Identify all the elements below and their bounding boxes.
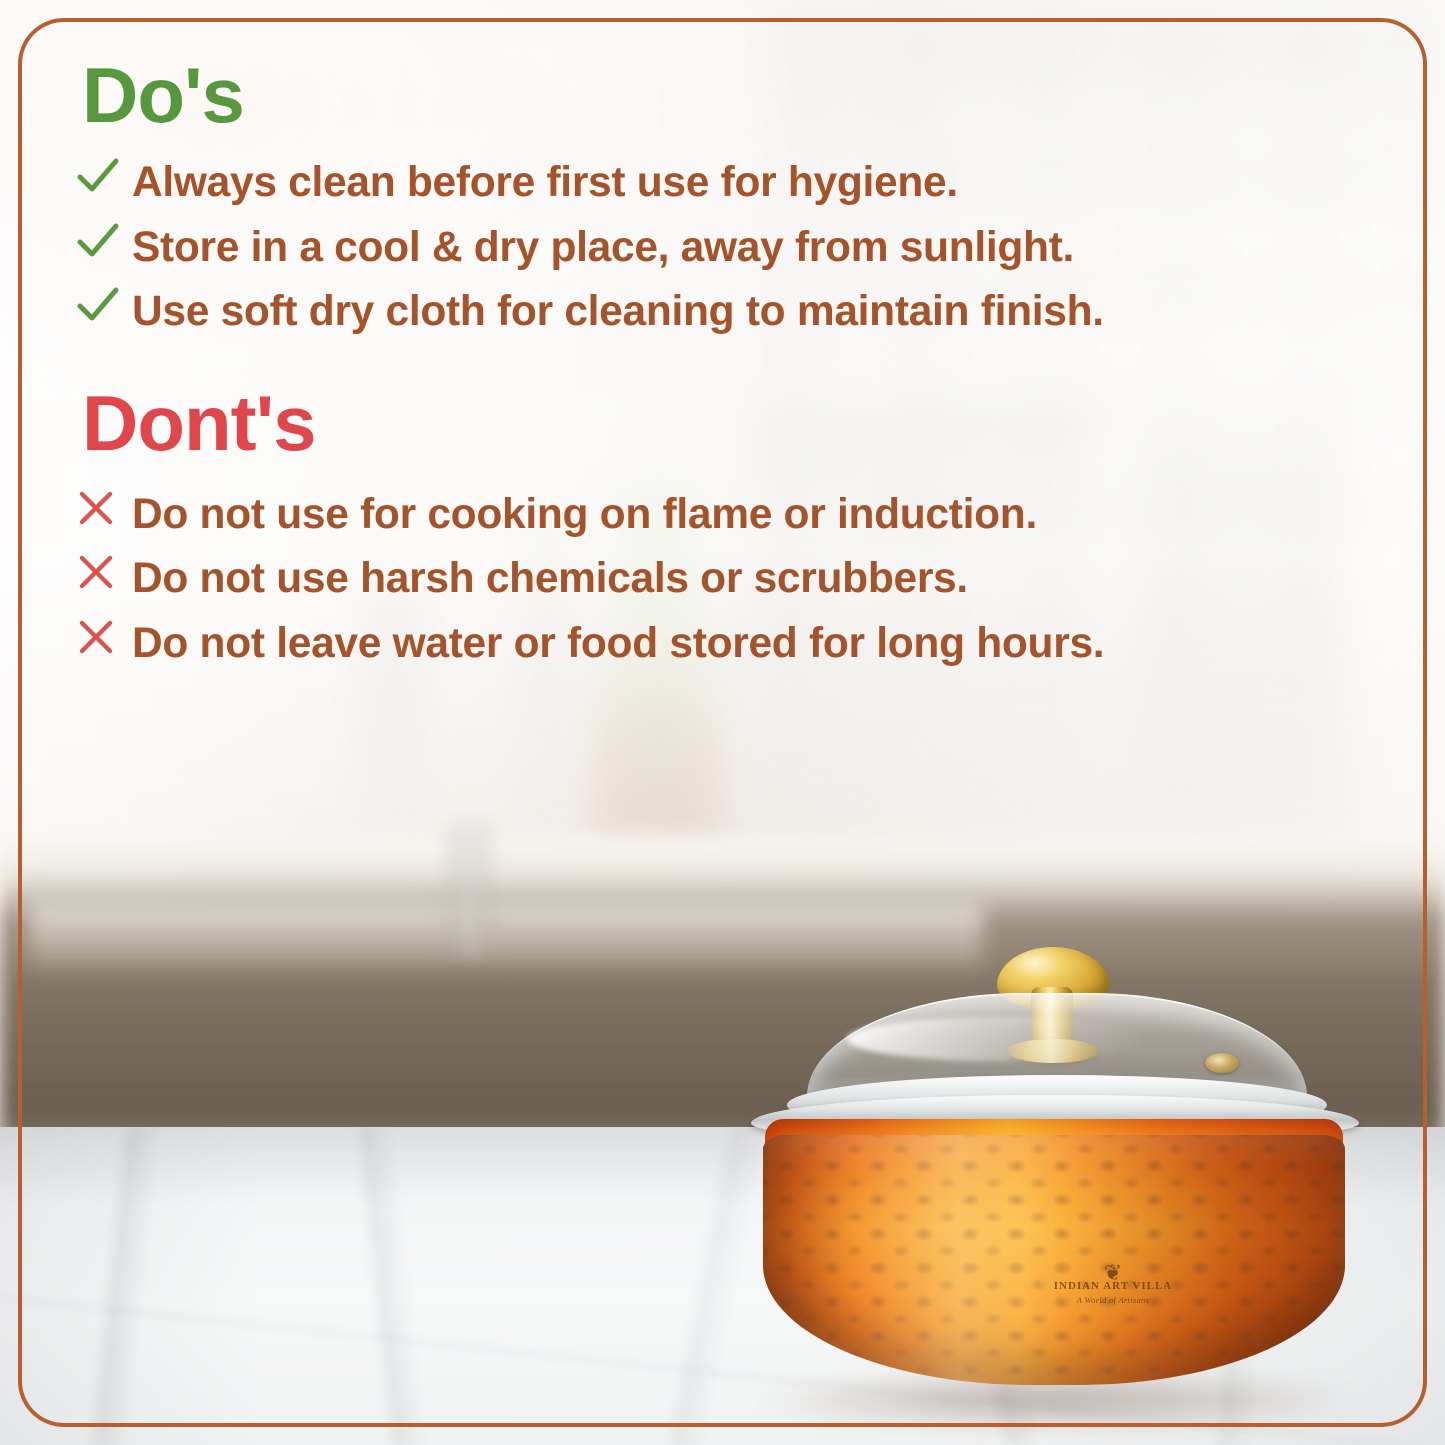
donts-item-text: Do not leave water or food stored for lo… xyxy=(132,620,1104,668)
cross-icon xyxy=(76,552,132,592)
list-item: Use soft dry cloth for cleaning to maint… xyxy=(76,285,1393,336)
list-item: Do not use for cooking on flame or induc… xyxy=(76,488,1393,539)
dos-list: Always clean before first use for hygien… xyxy=(76,156,1393,336)
list-item: Store in a cool & dry place, away from s… xyxy=(76,221,1393,272)
donts-heading: Dont's xyxy=(82,384,1393,462)
check-icon xyxy=(76,221,132,261)
list-item: Always clean before first use for hygien… xyxy=(76,156,1393,207)
dos-item-text: Use soft dry cloth for cleaning to maint… xyxy=(132,288,1104,336)
check-icon xyxy=(76,285,132,325)
dos-item-text: Store in a cool & dry place, away from s… xyxy=(132,224,1074,272)
content-area: Do's Always clean before first use for h… xyxy=(0,0,1445,1445)
dos-item-text: Always clean before first use for hygien… xyxy=(132,159,958,207)
check-icon xyxy=(76,156,132,196)
donts-item-text: Do not use harsh chemicals or scrubbers. xyxy=(132,555,968,603)
cross-icon xyxy=(76,488,132,528)
list-item: Do not use harsh chemicals or scrubbers. xyxy=(76,552,1393,603)
dos-heading: Do's xyxy=(82,56,1393,134)
list-item: Do not leave water or food stored for lo… xyxy=(76,617,1393,668)
infographic-canvas: ❦ INDIAN ART VILLA A World of Artisans D… xyxy=(0,0,1445,1445)
donts-list: Do not use for cooking on flame or induc… xyxy=(76,488,1393,668)
donts-item-text: Do not use for cooking on flame or induc… xyxy=(132,491,1037,539)
cross-icon xyxy=(76,617,132,657)
